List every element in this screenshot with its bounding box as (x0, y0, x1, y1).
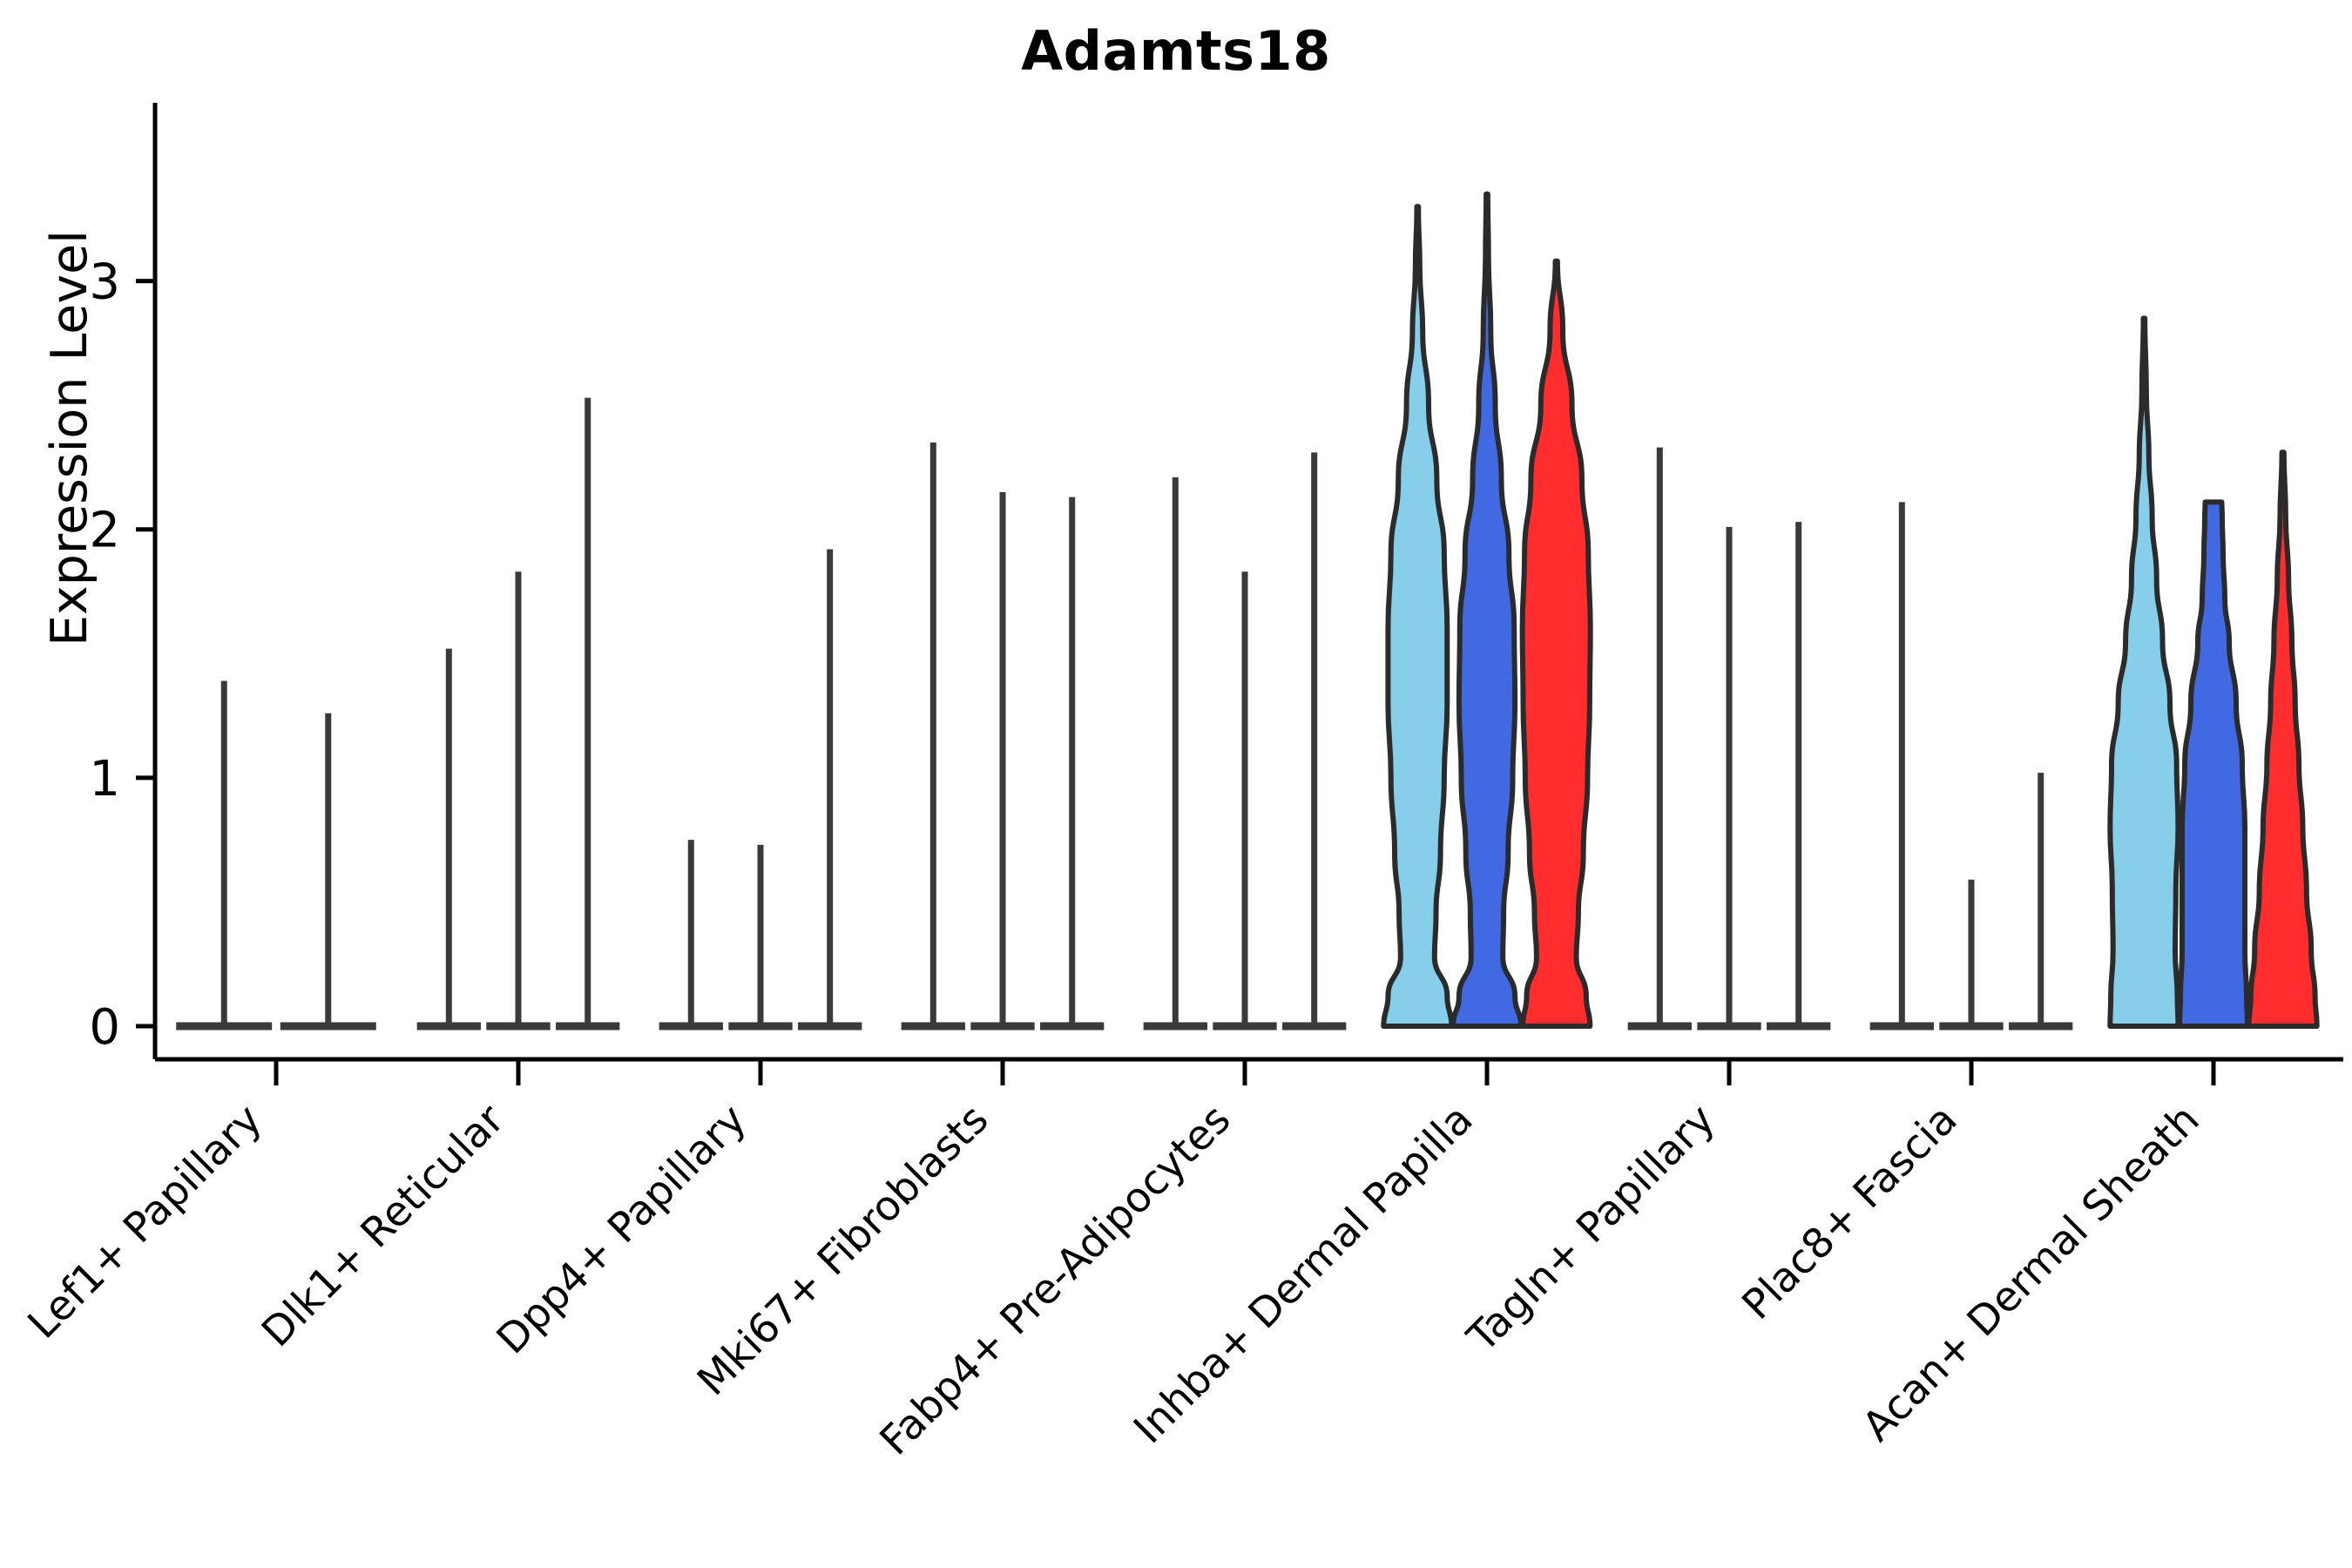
y-tick-labels: 0123 (89, 254, 120, 1056)
violin-body (1523, 261, 1591, 1026)
plot-canvas: 0123 Lef1+ PapillaryDlk1+ ReticularDpp4+… (0, 0, 2352, 1568)
x-tick-label: Plac8+ Fascia (1734, 1096, 1967, 1329)
violin-layer (176, 194, 2316, 1026)
violin-plot-figure: Adamts18 Expression Level 0123 Lef1+ Pap… (0, 0, 2352, 1568)
y-tick-label: 1 (89, 751, 120, 808)
violin-body (2249, 452, 2317, 1026)
violin-body (1383, 206, 1451, 1026)
violin-body (1453, 194, 1521, 1026)
x-tick-label: Tagln+ Papillary (1458, 1096, 1725, 1362)
y-tick-label: 2 (89, 503, 120, 559)
violin-body (2110, 318, 2178, 1026)
y-tick-label: 3 (89, 254, 120, 311)
x-tick-label: Lef1+ Papillary (19, 1096, 272, 1348)
x-tick-label: Dlk1+ Reticular (253, 1095, 514, 1356)
x-tick-labels: Lef1+ PapillaryDlk1+ ReticularDpp4+ Papi… (19, 1095, 2209, 1464)
x-tick-label: Dpp4+ Papillary (488, 1096, 756, 1364)
axes-layer (136, 103, 2343, 1085)
y-tick-label: 0 (89, 999, 120, 1056)
violin-body (2180, 502, 2247, 1026)
